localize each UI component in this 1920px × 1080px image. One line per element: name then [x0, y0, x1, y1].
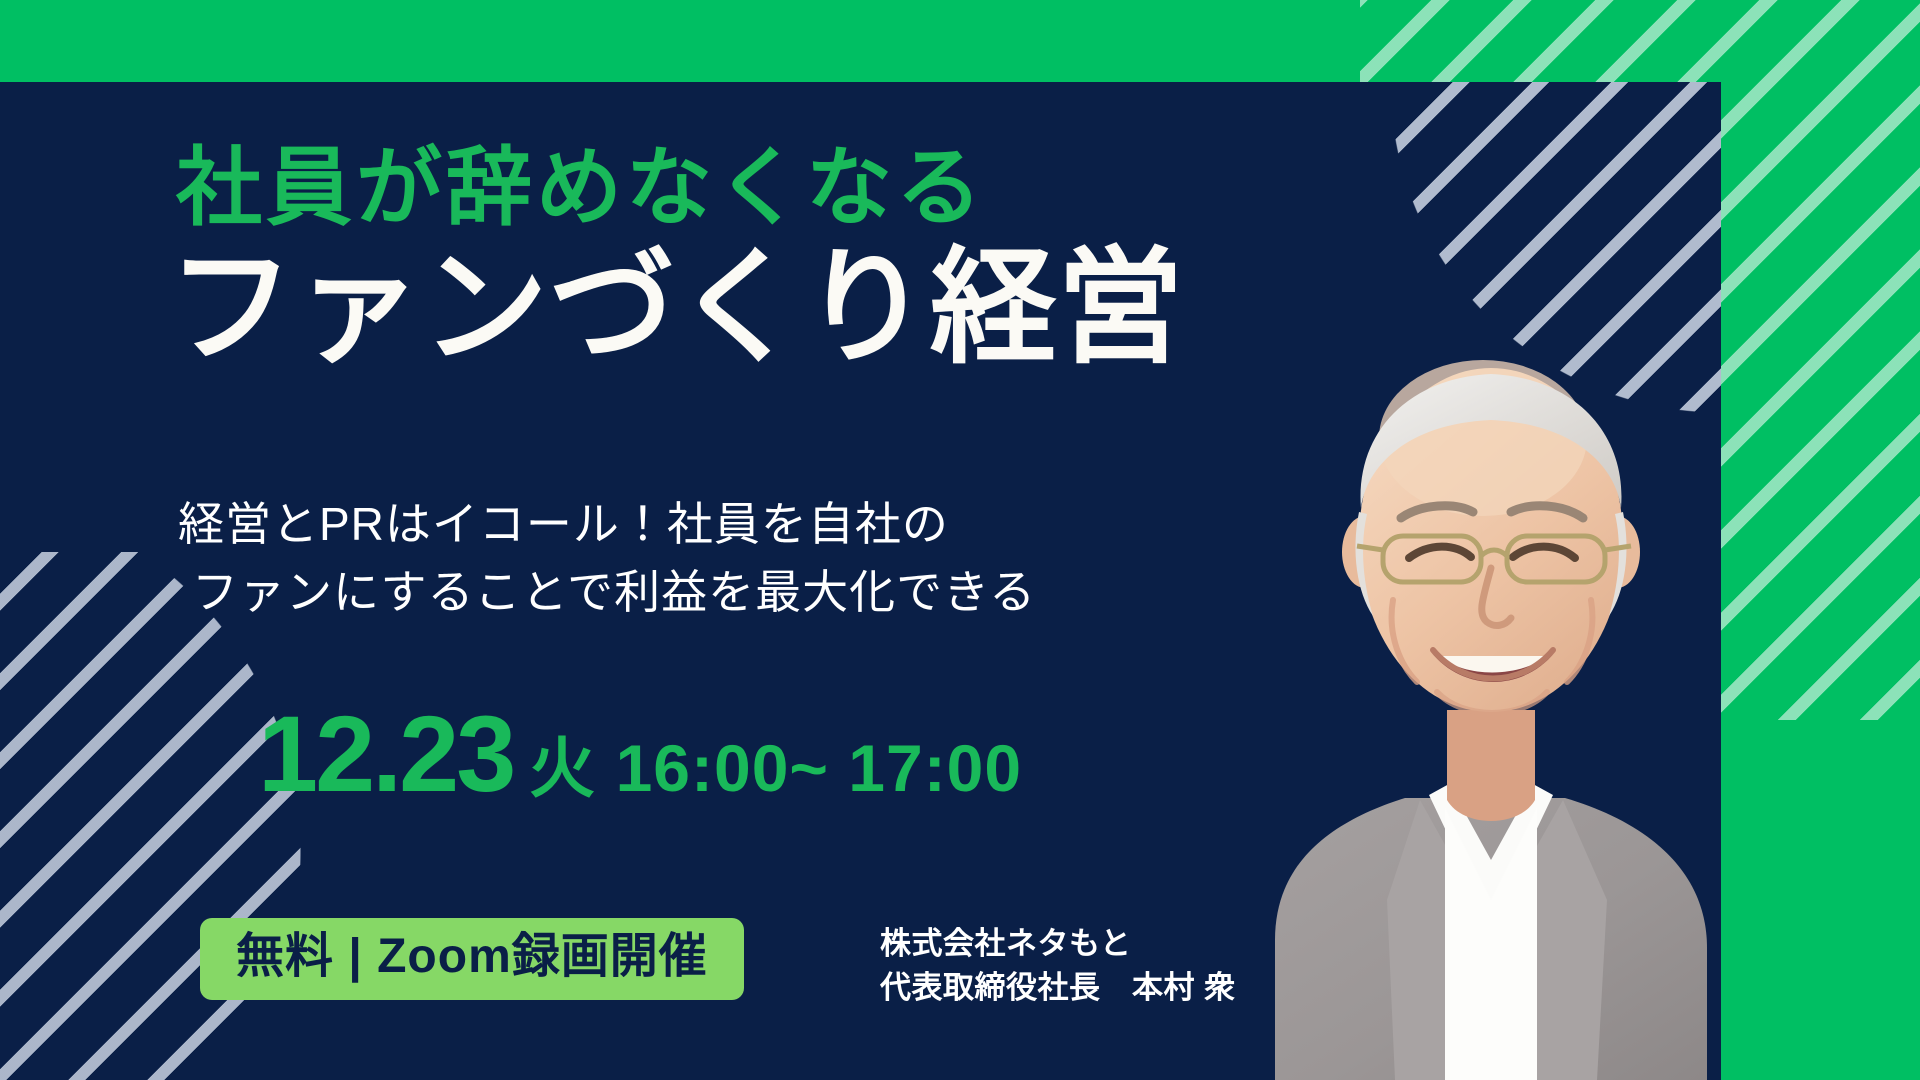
- banner-content: 社員が辞めなくなる ファンづくり経営 経営とPRはイコール！社員を自社の ファン…: [0, 0, 1280, 1080]
- event-date: 12.23: [258, 700, 513, 808]
- speaker-company: 株式会社ネタもと: [880, 922, 1236, 966]
- event-day-time: 火 16:00~ 17:00: [529, 735, 1022, 801]
- lede-text: 経営とPRはイコール！社員を自社の ファンにすることで利益を最大化できる: [178, 490, 1036, 626]
- lede-line-1: 経営とPRはイコール！社員を自社の: [178, 490, 1036, 558]
- event-datetime: 12.23 火 16:00~ 17:00: [258, 700, 1022, 808]
- speaker-title-name: 代表取締役社長 本村 衆: [880, 966, 1236, 1010]
- headline-subtitle: 社員が辞めなくなる: [176, 145, 986, 231]
- page-title: ファンづくり経営: [168, 245, 1184, 371]
- diagonal-stripes-icon-panel-top-right: [1391, 82, 1721, 702]
- speaker-credit: 株式会社ネタもと 代表取締役社長 本村 衆: [880, 922, 1236, 1010]
- status-badge[interactable]: 無料 | Zoom録画開催: [200, 918, 744, 1000]
- lede-line-2: ファンにすることで利益を最大化できる: [178, 558, 1036, 626]
- webinar-banner: 社員が辞めなくなる ファンづくり経営 経営とPRはイコール！社員を自社の ファン…: [0, 0, 1920, 1080]
